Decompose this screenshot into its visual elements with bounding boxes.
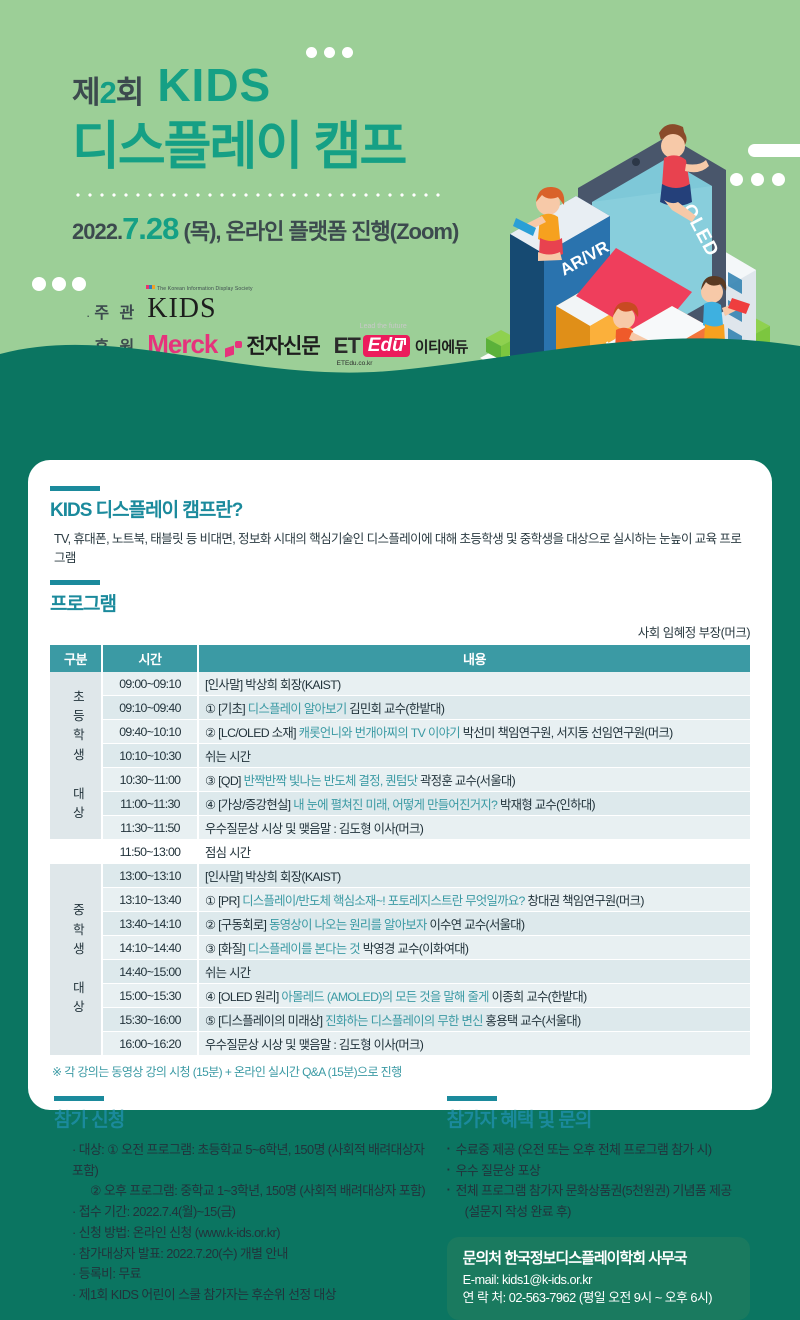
content-card: KIDS 디스플레이 캠프란? TV, 휴대폰, 노트북, 태블릿 등 비대면,… — [28, 460, 772, 1110]
cell-group: 초등학생 대상 — [50, 672, 102, 840]
list-item: (설문지 작성 완료 후) — [447, 1202, 750, 1223]
table-row: 14:10~14:40③ [화질] 디스플레이를 본다는 것 박영경 교수(이화… — [50, 936, 750, 960]
table-body: 초등학생 대상09:00~09:10[인사말] 박상희 회장(KAIST)09:… — [50, 672, 750, 1056]
cell-time: 16:00~16:20 — [102, 1032, 198, 1056]
contact-email[interactable]: E-mail: kids1@k-ids.or.kr — [463, 1271, 734, 1290]
kids-flag-icon — [146, 285, 155, 289]
list-item: ② 오후 프로그램: 중학교 1~3학년, 150명 (사회적 배려대상자 포함… — [54, 1181, 435, 1202]
list-item: 수료증 제공 (오전 또는 오후 전체 프로그램 참가 시) — [447, 1140, 750, 1161]
section-rule — [447, 1096, 497, 1101]
cell-time: 15:00~15:30 — [102, 984, 198, 1008]
page-title: 디스플레이 캠프 — [72, 120, 492, 175]
program-table: 구분 시간 내용 초등학생 대상09:00~09:10[인사말] 박상희 회장(… — [50, 645, 750, 1056]
cell-content: ③ [화질] 디스플레이를 본다는 것 박영경 교수(이화여대) — [198, 936, 750, 960]
edition-number: 2 — [100, 75, 116, 110]
table-row: 09:10~09:40① [기초] 디스플레이 알아보기 김민회 교수(한밭대) — [50, 696, 750, 720]
table-row-lunch: 11:50~13:00점심 시간 — [50, 840, 750, 864]
table-row: 중학생 대상13:00~13:10[인사말] 박상희 회장(KAIST) — [50, 864, 750, 888]
dotted-divider — [72, 193, 444, 197]
cell-content: ② [LC/OLED 소재] 캐롯언니와 번개아찌의 TV 이야기 박선미 책임… — [198, 720, 750, 744]
cell-time: 13:10~13:40 — [102, 888, 198, 912]
edition-label: 제2회 — [72, 77, 143, 108]
intro-title: KIDS 디스플레이 캠프란? — [50, 495, 750, 522]
cell-content: ⑤ [디스플레이의 미래상] 진화하는 디스플레이의 무한 변신 홍용택 교수(… — [198, 1008, 750, 1032]
brand-title: KIDS — [157, 62, 271, 108]
highlighted-lecture-title: 동영상이 나오는 원리를 알아보자 — [269, 918, 427, 932]
table-row: 13:40~14:10② [구동회로] 동영상이 나오는 원리를 알아보자 이수… — [50, 912, 750, 936]
cell-content: ④ [가상/증강현실] 내 눈에 펼쳐진 미래, 어떻게 만들어진거지? 박재형… — [198, 792, 750, 816]
table-row: 초등학생 대상09:00~09:10[인사말] 박상희 회장(KAIST) — [50, 672, 750, 696]
section-rule — [54, 1096, 104, 1101]
highlighted-lecture-title: 아몰레드 (AMOLED)의 모든 것을 말해 줄게 — [281, 990, 488, 1004]
cell-time: 11:50~13:00 — [102, 840, 198, 864]
th-time: 시간 — [102, 645, 198, 672]
decor-dot — [52, 277, 66, 291]
list-item: · 등록비: 무료 — [54, 1264, 435, 1285]
list-item: · 대상: ① 오전 프로그램: 초등학교 5~6학년, 150명 (사회적 배… — [54, 1140, 435, 1181]
table-header-row: 구분 시간 내용 — [50, 645, 750, 672]
cell-content: ① [PR] 디스플레이/반도체 핵심소재~! 포토레지스트란 무엇일까요? 창… — [198, 888, 750, 912]
kids-society-tagline: The Korean Information Display Society — [146, 285, 253, 292]
decor-dot — [72, 277, 86, 291]
cell-time: 11:30~11:50 — [102, 816, 198, 840]
highlighted-lecture-title: 디스플레이 알아보기 — [248, 702, 347, 716]
cell-content: [인사말] 박상희 회장(KAIST) — [198, 864, 750, 888]
cell-time: 09:40~10:10 — [102, 720, 198, 744]
apply-section-header: 참가 신청 — [54, 1096, 435, 1132]
cell-group-empty — [50, 840, 102, 864]
program-title: 프로그램 — [50, 589, 750, 616]
date-day: 7.28 — [122, 211, 178, 246]
table-row: 14:40~15:00쉬는 시간 — [50, 960, 750, 984]
decor-dot — [324, 47, 335, 58]
cell-time: 14:10~14:40 — [102, 936, 198, 960]
contact-phone[interactable]: 연 락 처: 02-563-7962 (평일 오전 9시 ~ 오후 6시) — [463, 1289, 734, 1308]
list-item: 전체 프로그램 참가자 문화상품권(5천원권) 기념품 제공 — [447, 1181, 750, 1202]
table-row: 10:30~11:00③ [QD] 반짝반짝 빛나는 반도체 결정, 퀀텀닷 곽… — [50, 768, 750, 792]
cell-group: 중학생 대상 — [50, 864, 102, 1056]
list-item: 우수 질문상 포상 — [447, 1161, 750, 1182]
cell-time: 15:30~16:00 — [102, 1008, 198, 1032]
poster-header: DISPLAY CAMP — [0, 0, 800, 400]
highlighted-lecture-title: 내 눈에 펼쳐진 미래, 어떻게 만들어진거지? — [293, 798, 497, 812]
cell-content: 쉬는 시간 — [198, 744, 750, 768]
table-row: 15:00~15:30④ [OLED 원리] 아몰레드 (AMOLED)의 모든… — [50, 984, 750, 1008]
cell-time: 09:10~09:40 — [102, 696, 198, 720]
highlighted-lecture-title: 디스플레이를 본다는 것 — [248, 942, 360, 956]
cell-content: ② [구동회로] 동영상이 나오는 원리를 알아보자 이수연 교수(서울대) — [198, 912, 750, 936]
cell-content: 쉬는 시간 — [198, 960, 750, 984]
kids-society-text: The Korean Information Display Society — [157, 286, 253, 292]
th-gubun: 구분 — [50, 645, 102, 672]
cell-time: 10:30~11:00 — [102, 768, 198, 792]
table-row: 16:00~16:20우수질문상 시상 및 맺음말 : 김도형 이사(머크) — [50, 1032, 750, 1056]
cell-time: 09:00~09:10 — [102, 672, 198, 696]
event-date: 2022.7.28 (목), 온라인 플랫폼 진행(Zoom) — [72, 211, 492, 247]
list-item: · 제1회 KIDS 어린이 스쿨 참가자는 후순위 선정 대상 — [54, 1285, 435, 1306]
decor-dot — [342, 47, 353, 58]
apply-title: 참가 신청 — [54, 1105, 435, 1132]
intro-section-header: KIDS 디스플레이 캠프란? — [50, 486, 750, 522]
intro-text: TV, 휴대폰, 노트북, 태블릿 등 비대면, 정보화 시대의 핵심기술인 디… — [54, 528, 750, 566]
host-label: 주 관 — [94, 299, 137, 323]
table-row: 13:10~13:40① [PR] 디스플레이/반도체 핵심소재~! 포토레지스… — [50, 888, 750, 912]
benefits-title: 참가자 혜택 및 문의 — [447, 1105, 750, 1132]
benefits-list: 수료증 제공 (오전 또는 오후 전체 프로그램 참가 시)우수 질문상 포상전… — [447, 1140, 750, 1223]
cell-content: 우수질문상 시상 및 맺음말 : 김도형 이사(머크) — [198, 816, 750, 840]
benefits-section: 참가자 혜택 및 문의 수료증 제공 (오전 또는 오후 전체 프로그램 참가 … — [435, 1096, 750, 1320]
section-rule — [50, 580, 100, 585]
cell-time: 13:40~14:10 — [102, 912, 198, 936]
cell-time: 14:40~15:00 — [102, 960, 198, 984]
cell-time: 13:00~13:10 — [102, 864, 198, 888]
list-item: · 신청 방법: 온라인 신청 (www.k-ids.or.kr) — [54, 1223, 435, 1244]
table-row: 15:30~16:00⑤ [디스플레이의 미래상] 진화하는 디스플레이의 무한… — [50, 1008, 750, 1032]
kids-logo: KIDS — [147, 296, 216, 323]
title-block: 제2회KIDS 디스플레이 캠프 2022.7.28 (목), 온라인 플랫폼 … — [72, 62, 492, 247]
program-host: 사회 임혜정 부장(머크) — [50, 622, 750, 641]
contact-box: 문의처 한국정보디스플레이학회 사무국 E-mail: kids1@k-ids.… — [447, 1237, 750, 1320]
highlighted-lecture-title: 진화하는 디스플레이의 무한 변신 — [325, 1014, 483, 1028]
bottom-columns: 참가 신청 · 대상: ① 오전 프로그램: 초등학교 5~6학년, 150명 … — [50, 1096, 750, 1320]
apply-section: 참가 신청 · 대상: ① 오전 프로그램: 초등학교 5~6학년, 150명 … — [50, 1096, 435, 1320]
list-item: · 참가대상자 발표: 2022.7.20(수) 개별 안내 — [54, 1244, 435, 1265]
cell-content: ③ [QD] 반짝반짝 빛나는 반도체 결정, 퀀텀닷 곽정훈 교수(서울대) — [198, 768, 750, 792]
cell-content: 점심 시간 — [198, 840, 750, 864]
highlighted-lecture-title: 캐롯언니와 번개아찌의 TV 이야기 — [299, 726, 460, 740]
date-prefix: 2022. — [72, 219, 122, 244]
date-suffix: (목), 온라인 플랫폼 진행(Zoom) — [184, 219, 459, 244]
apply-list: · 대상: ① 오전 프로그램: 초등학교 5~6학년, 150명 (사회적 배… — [54, 1140, 435, 1306]
highlighted-lecture-title: 반짝반짝 빛나는 반도체 결정, 퀀텀닷 — [244, 774, 418, 788]
cell-content: ④ [OLED 원리] 아몰레드 (AMOLED)의 모든 것을 말해 줄게 이… — [198, 984, 750, 1008]
cell-content: 우수질문상 시상 및 맺음말 : 김도형 이사(머크) — [198, 1032, 750, 1056]
benefits-section-header: 참가자 혜택 및 문의 — [447, 1096, 750, 1132]
highlighted-lecture-title: 디스플레이/반도체 핵심소재~! 포토레지스트란 무엇일까요? — [242, 894, 524, 908]
program-note: ※ 각 강의는 동영상 강의 시청 (15분) + 온라인 실시간 Q&A (1… — [52, 1063, 750, 1080]
host-row: · 주 관 The Korean Information Display Soc… — [86, 296, 486, 323]
decor-dot — [32, 277, 46, 291]
contact-title: 문의처 한국정보디스플레이학회 사무국 — [463, 1247, 734, 1268]
program-section-header: 프로그램 — [50, 580, 750, 616]
cell-time: 11:00~11:30 — [102, 792, 198, 816]
section-rule — [50, 486, 100, 491]
table-row: 11:00~11:30④ [가상/증강현실] 내 눈에 펼쳐진 미래, 어떻게 … — [50, 792, 750, 816]
list-item: · 접수 기간: 2022.7.4(월)~15(금) — [54, 1202, 435, 1223]
cell-time: 10:10~10:30 — [102, 744, 198, 768]
cell-content: [인사말] 박상희 회장(KAIST) — [198, 672, 750, 696]
table-row: 11:30~11:50우수질문상 시상 및 맺음말 : 김도형 이사(머크) — [50, 816, 750, 840]
table-row: 09:40~10:10② [LC/OLED 소재] 캐롯언니와 번개아찌의 TV… — [50, 720, 750, 744]
decor-dot — [306, 47, 317, 58]
cell-content: ① [기초] 디스플레이 알아보기 김민회 교수(한밭대) — [198, 696, 750, 720]
table-row: 10:10~10:30쉬는 시간 — [50, 744, 750, 768]
header-wave-divider — [0, 320, 800, 400]
th-content: 내용 — [198, 645, 750, 672]
